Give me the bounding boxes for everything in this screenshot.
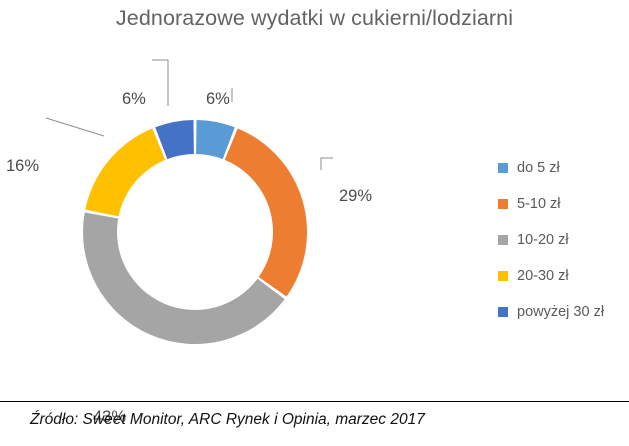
legend-item[interactable]: 20-30 zł — [498, 258, 629, 294]
donut-slice-s2030[interactable] — [85, 128, 165, 216]
footer-divider — [0, 401, 629, 402]
slice-percent-do5: 6% — [206, 90, 230, 109]
legend-item-label: 10-20 zł — [517, 232, 569, 248]
legend-item[interactable]: 5-10 zł — [498, 186, 629, 222]
legend-item[interactable]: 10-20 zł — [498, 222, 629, 258]
slice-percent-powyzej-30: 6% — [122, 90, 146, 109]
donut-chart: 6% 29% 43% 16% 6% — [0, 40, 470, 400]
legend-swatch-icon — [498, 307, 508, 317]
slice-percent-20-30: 16% — [6, 157, 39, 176]
legend-item[interactable]: do 5 zł — [498, 150, 629, 186]
legend-swatch-icon — [498, 163, 508, 173]
chart-title: Jednorazowe wydatki w cukierni/lodziarni — [0, 6, 629, 31]
legend-item-label: 5-10 zł — [517, 196, 561, 212]
donut-slice-s510[interactable] — [225, 128, 307, 296]
legend-item[interactable]: powyżej 30 zł — [498, 294, 629, 330]
donut-slice-s1020[interactable] — [83, 213, 285, 344]
donut-chart-svg — [0, 40, 470, 400]
legend-swatch-icon — [498, 235, 508, 245]
leader-line-2030 — [46, 118, 104, 136]
leader-line-pow30 — [152, 60, 168, 106]
legend-item-label: 20-30 zł — [517, 268, 569, 284]
legend-swatch-icon — [498, 199, 508, 209]
leader-line-510 — [321, 158, 333, 170]
source-note: Źródło: Sweet Monitor, ARC Rynek i Opini… — [30, 411, 425, 429]
legend-item-label: powyżej 30 zł — [517, 304, 604, 320]
slice-percent-5-10: 29% — [339, 187, 372, 206]
chart-legend: do 5 zł5-10 zł10-20 zł20-30 złpowyżej 30… — [498, 150, 629, 330]
legend-item-label: do 5 zł — [517, 160, 560, 176]
legend-swatch-icon — [498, 271, 508, 281]
donut-slice-group — [83, 120, 307, 344]
